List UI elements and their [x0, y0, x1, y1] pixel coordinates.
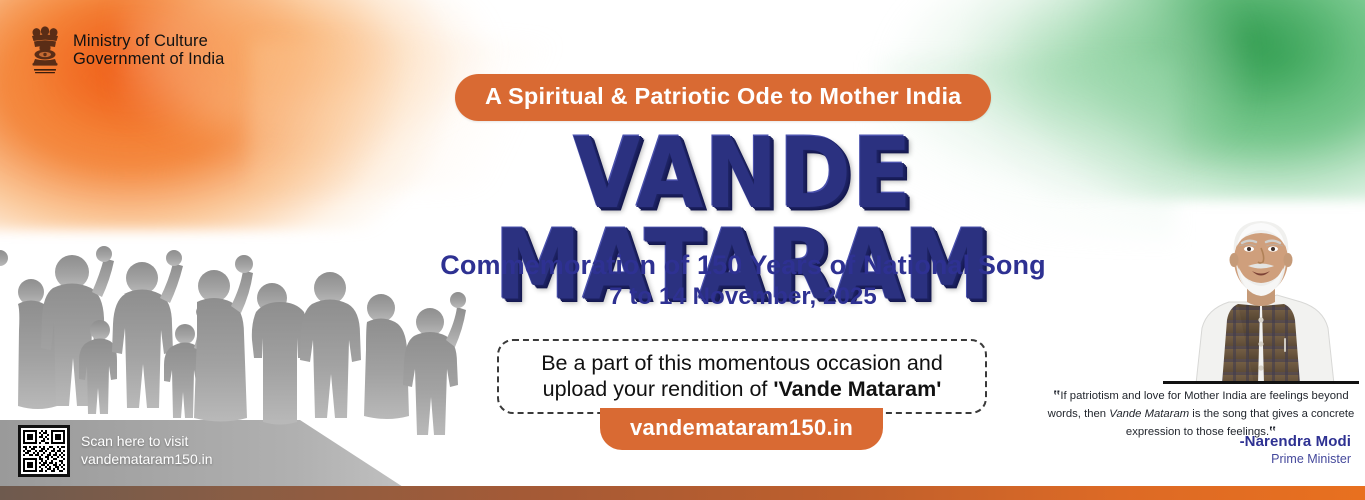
- tagline-badge: A Spiritual & Patriotic Ode to Mother In…: [455, 74, 991, 121]
- qr-caption-line1: Scan here to visit: [81, 433, 213, 451]
- quote-attribution: -Narendra Modi: [1051, 433, 1351, 450]
- bottom-accent-bar: [0, 486, 1365, 500]
- qr-caption: Scan here to visit vandemataram150.in: [81, 433, 213, 469]
- vande-mataram-banner: Ministry of Culture Government of India: [0, 0, 1365, 500]
- cta-line2: upload your rendition of 'Vande Mataram': [513, 376, 971, 402]
- quote-attribution-role: Prime Minister: [1051, 452, 1351, 466]
- quote-divider-rule: [1163, 381, 1359, 384]
- website-url-button[interactable]: vandemataram150.in: [600, 408, 883, 450]
- qr-code-icon[interactable]: [18, 425, 70, 477]
- cta-line2-emphasis: 'Vande Mataram': [773, 377, 941, 401]
- prime-minister-portrait: [1181, 216, 1341, 384]
- ashoka-lion-capital-emblem-icon: [26, 22, 64, 78]
- qr-caption-line2: vandemataram150.in: [81, 451, 213, 469]
- cta-line2-prefix: upload your rendition of: [543, 377, 774, 401]
- government-name: Government of India: [73, 50, 224, 68]
- subtitle-commemoration: Commemoration of 150 Years of National S…: [393, 250, 1093, 281]
- cta-line1: Be a part of this momentous occasion and: [513, 350, 971, 376]
- call-to-action-box: Be a part of this momentous occasion and…: [497, 339, 987, 414]
- qr-scan-block[interactable]: Scan here to visit vandemataram150.in: [18, 425, 213, 477]
- ministry-name: Ministry of Culture: [73, 32, 224, 50]
- ministry-identity: Ministry of Culture Government of India: [26, 22, 224, 78]
- quote-text-italic: Vande Mataram: [1109, 408, 1189, 420]
- subtitle-dates: 7 to 14 November, 2025: [393, 283, 1093, 311]
